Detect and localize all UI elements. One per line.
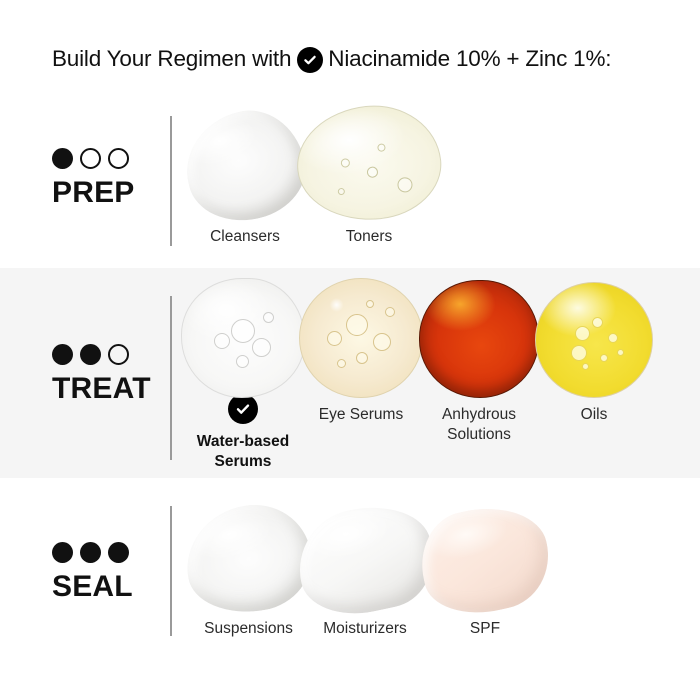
bubble [575,326,590,341]
product-label-water-based-serums: Water-based Serums [197,432,289,472]
product-spf[interactable]: SPF [423,500,547,639]
check-badge-icon [297,47,323,73]
product-label-anhydrous-solutions: Anhydrous Solutions [442,405,516,445]
product-label-oils: Oils [581,405,608,425]
product-cleansers[interactable]: Cleansers [186,112,304,247]
product-row-prep: Cleansers Toners [186,112,440,247]
bubble [608,333,618,343]
progress-dot-3 [108,344,129,365]
product-label-eye-serums: Eye Serums [319,405,403,425]
progress-dot-1 [52,148,73,169]
bubble [592,317,603,328]
product-label-suspensions: Suspensions [204,619,293,639]
swatch-oils [535,282,653,398]
product-label-toners: Toners [346,227,393,247]
product-row-treat: Water-based Serums Eye Serums Anhydrous … [182,280,652,472]
bubble [366,300,374,308]
swatch-cleansers [175,99,316,232]
stage-progress-dots-seal [52,542,162,563]
bubble [600,354,608,362]
product-label-moisturizers: Moisturizers [323,619,407,639]
progress-dot-3 [108,542,129,563]
bubble [346,314,368,336]
bubble [571,345,587,361]
stage-progress-dots-treat [52,344,162,365]
bubble [231,319,255,343]
progress-dot-3 [108,148,129,169]
selected-check-badge-icon [228,394,258,424]
swatch-eye-serums [299,278,423,398]
page-title-prefix: Build Your Regimen with [52,46,291,72]
bubble [327,331,342,346]
page-title: Build Your Regimen with Niacinamide 10% … [52,46,611,72]
stage-treat: TREAT [52,344,162,404]
stage-label-treat: TREAT [52,374,162,404]
progress-dot-2 [80,148,101,169]
bubble [337,188,345,196]
product-moisturizers[interactable]: Moisturizers [301,500,429,639]
bubble [340,158,350,168]
stage-progress-dots-prep [52,148,162,169]
bubble [582,363,589,370]
product-water-based-serums[interactable]: Water-based Serums [182,280,304,472]
swatch-anhydrous-solutions [419,280,539,398]
bubble [214,333,230,349]
stage-prep: PREP [52,148,162,208]
bubble [337,359,346,368]
stage-label-prep: PREP [52,178,162,208]
product-label-spf: SPF [470,619,500,639]
bubble [373,333,391,351]
bubble [385,307,395,317]
divider-treat [170,296,172,460]
progress-dot-2 [80,542,101,563]
product-row-seal: Suspensions Moisturizers SPF [186,500,547,639]
bubble [252,338,271,357]
swatch-moisturizers [288,495,442,625]
swatch-water-based-serums [181,278,305,398]
bubble [617,349,624,356]
bubble [356,352,368,364]
stage-label-seal: SEAL [52,572,162,602]
bubble [263,312,274,323]
product-toners[interactable]: Toners [298,112,440,247]
bubble [236,355,249,368]
progress-dot-1 [52,542,73,563]
progress-dot-2 [80,344,101,365]
divider-seal [170,506,172,636]
product-oils[interactable]: Oils [536,280,652,425]
divider-prep [170,116,172,246]
swatch-toners [291,99,446,227]
progress-dot-1 [52,344,73,365]
stage-seal: SEAL [52,542,162,602]
swatch-spf [411,495,559,625]
page-title-suffix: Niacinamide 10% + Zinc 1%: [328,46,611,72]
product-suspensions[interactable]: Suspensions [186,500,311,639]
product-eye-serums[interactable]: Eye Serums [300,280,422,425]
product-anhydrous-solutions[interactable]: Anhydrous Solutions [420,280,538,445]
bubble [377,143,386,152]
product-label-cleansers: Cleansers [210,227,280,247]
